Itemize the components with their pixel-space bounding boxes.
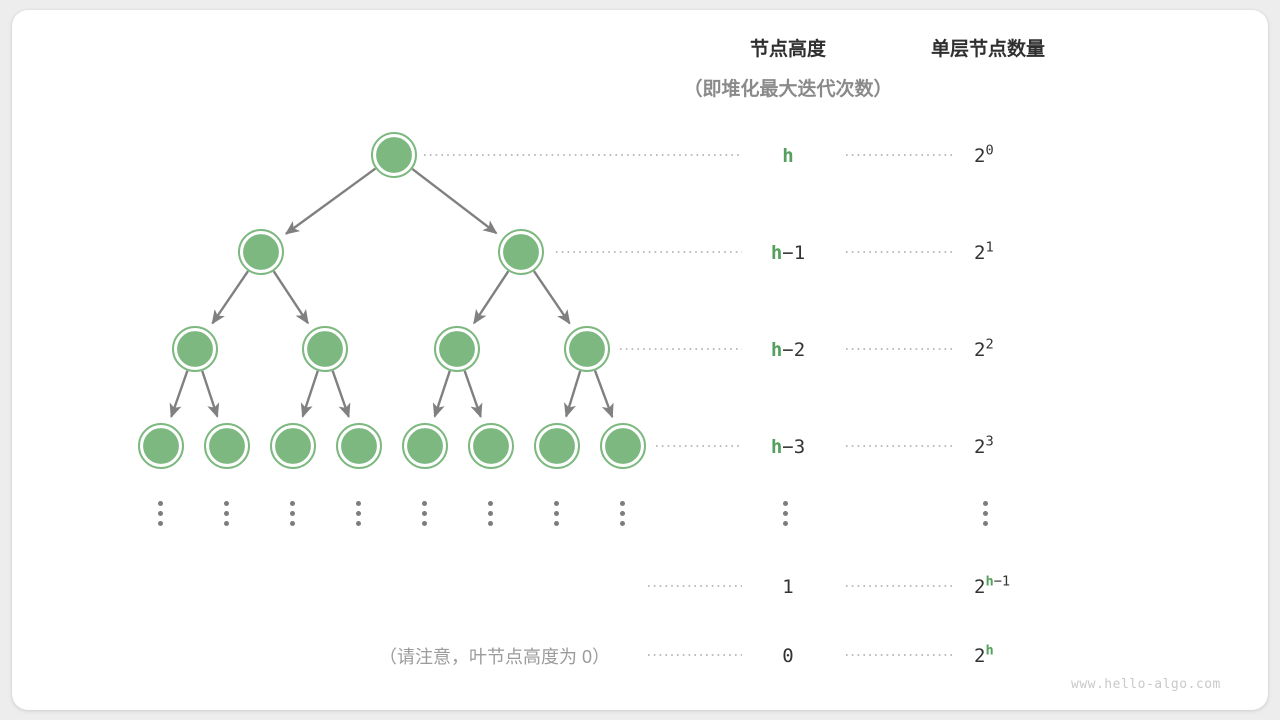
- count-base: 2: [974, 436, 985, 458]
- tree-edge: [171, 371, 187, 417]
- height-value-row-3: h−3: [718, 436, 858, 458]
- node-body: [340, 427, 378, 465]
- node-body: [538, 427, 576, 465]
- tree-node: [469, 424, 513, 468]
- count-exp-offset: 0: [985, 143, 993, 159]
- tree-node: [239, 230, 283, 274]
- tree-node: [403, 424, 447, 468]
- tree-nodes: [139, 133, 645, 468]
- vertical-ellipsis: [783, 501, 789, 526]
- node-body: [274, 427, 312, 465]
- count-exp-offset: 1: [985, 240, 993, 256]
- diagram-stage: 节点高度 （即堆化最大迭代次数） 单层节点数量 h h−1 h−2 h−3 1 …: [0, 0, 1280, 720]
- height-offset: −3: [782, 436, 805, 458]
- node-body: [568, 330, 606, 368]
- vertical-ellipsis: [488, 501, 494, 526]
- height-column-header: 节点高度: [688, 34, 888, 61]
- count-column-header: 单层节点数量: [888, 34, 1088, 61]
- node-body: [142, 427, 180, 465]
- height-value-row-2: h−2: [718, 339, 858, 361]
- count-exp-offset: −1: [994, 574, 1010, 590]
- height-value-row-5: 0: [718, 645, 858, 667]
- count-base: 2: [974, 242, 985, 264]
- tree-edge: [412, 169, 496, 233]
- count-value-row-0: 20: [974, 145, 994, 167]
- tree-edge: [202, 371, 217, 417]
- tree-edge: [212, 271, 248, 323]
- tree-edge: [286, 169, 375, 234]
- vertical-ellipsis: [983, 501, 989, 526]
- count-base: 2: [974, 339, 985, 361]
- tree-edges: [171, 169, 612, 417]
- count-value-row-5: 2h: [974, 645, 994, 667]
- height-offset: −1: [782, 242, 805, 264]
- tree-edge: [534, 271, 570, 323]
- count-exp-symbol: h: [985, 643, 993, 659]
- tree-node: [565, 327, 609, 371]
- tree-edge: [435, 371, 450, 417]
- node-body: [472, 427, 510, 465]
- binary-tree-svg: [0, 0, 1280, 720]
- vertical-ellipsis: [554, 501, 560, 526]
- height-value-row-1: h−1: [718, 242, 858, 264]
- tree-node: [173, 327, 217, 371]
- tree-edge: [474, 271, 508, 323]
- count-base: 2: [974, 145, 985, 167]
- tree-node: [535, 424, 579, 468]
- height-symbol: h: [782, 145, 793, 167]
- node-body: [406, 427, 444, 465]
- tree-node: [435, 327, 479, 371]
- tree-edge: [465, 371, 481, 417]
- count-value-row-1: 21: [974, 242, 994, 264]
- count-base: 2: [974, 645, 985, 667]
- tree-node: [303, 327, 347, 371]
- vertical-ellipsis: [620, 501, 626, 526]
- tree-edge: [303, 371, 318, 417]
- count-value-row-3: 23: [974, 436, 994, 458]
- node-body: [375, 136, 413, 174]
- count-exp-symbol: h: [985, 574, 993, 590]
- height-offset: 1: [782, 576, 793, 598]
- tree-edge: [333, 371, 349, 417]
- node-body: [502, 233, 540, 271]
- count-value-row-2: 22: [974, 339, 994, 361]
- tree-node: [601, 424, 645, 468]
- dotted-connectors: [424, 155, 952, 655]
- height-offset: 0: [782, 645, 793, 667]
- tree-node: [372, 133, 416, 177]
- height-symbol: h: [771, 436, 782, 458]
- count-exp-offset: 2: [985, 337, 993, 353]
- tree-node: [205, 424, 249, 468]
- vertical-ellipsis: [224, 501, 230, 526]
- tree-edge: [566, 371, 580, 416]
- height-symbol: h: [771, 242, 782, 264]
- tree-edge: [274, 271, 308, 323]
- height-column-subheader: （即堆化最大迭代次数）: [638, 74, 938, 101]
- vertical-ellipsis: [356, 501, 362, 526]
- height-value-row-4: 1: [718, 576, 858, 598]
- node-body: [208, 427, 246, 465]
- count-base: 2: [974, 576, 985, 598]
- vertical-ellipsis: [158, 501, 164, 526]
- count-exp-offset: 3: [985, 434, 993, 450]
- node-body: [242, 233, 280, 271]
- vertical-ellipsis: [290, 501, 296, 526]
- tree-node: [337, 424, 381, 468]
- leaf-height-note: （请注意，叶节点高度为 0）: [300, 643, 610, 669]
- vertical-ellipsis: [422, 501, 428, 526]
- tree-edge: [595, 371, 612, 417]
- height-value-row-0: h: [718, 145, 858, 167]
- node-body: [306, 330, 344, 368]
- height-symbol: h: [771, 339, 782, 361]
- tree-node: [271, 424, 315, 468]
- node-body: [176, 330, 214, 368]
- node-body: [604, 427, 642, 465]
- height-offset: −2: [782, 339, 805, 361]
- tree-node: [139, 424, 183, 468]
- watermark: www.hello-algo.com: [1071, 677, 1221, 692]
- tree-node: [499, 230, 543, 274]
- node-body: [438, 330, 476, 368]
- count-value-row-4: 2h−1: [974, 576, 1010, 598]
